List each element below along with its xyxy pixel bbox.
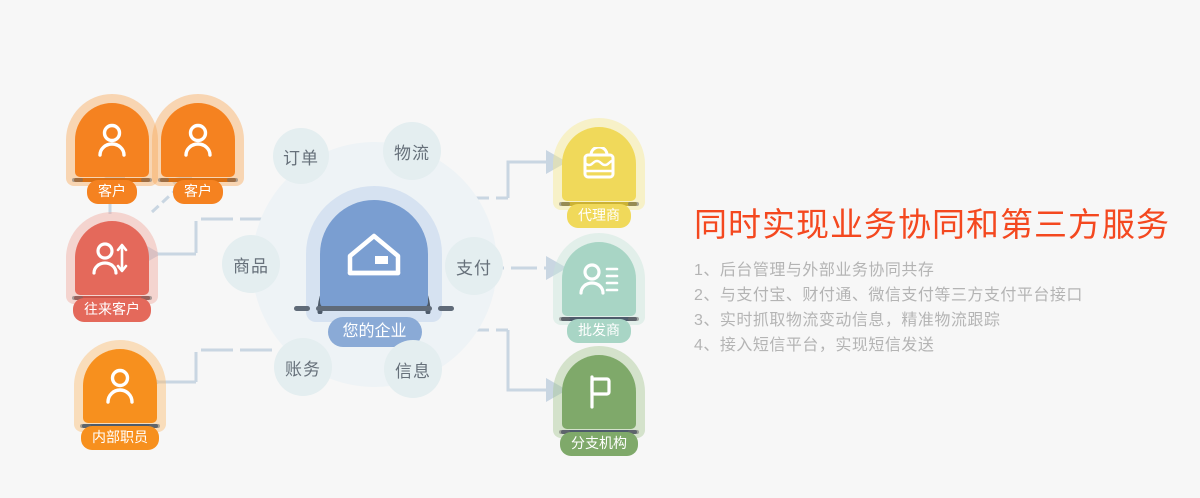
node-customer-a[interactable]: 客户 (66, 94, 158, 186)
feature-item-2: 2、与支付宝、财付通、微信支付等三方支付平台接口 (694, 283, 1174, 308)
bubble-accounting-label: 账务 (285, 355, 321, 380)
bubble-payment[interactable]: 支付 (445, 237, 503, 295)
node-contacts-label: 往来客户 (73, 298, 151, 322)
node-agent-label: 代理商 (567, 204, 631, 228)
bubble-orders[interactable]: 订单 (273, 128, 329, 184)
house-icon (347, 232, 401, 276)
node-wholesaler[interactable]: 批发商 (553, 233, 645, 325)
feature-list: 1、后台管理与外部业务协同共存 2、与支付宝、财付通、微信支付等三方支付平台接口… (694, 258, 1174, 358)
bubble-information[interactable]: 信息 (384, 340, 442, 398)
person-icon (181, 122, 215, 158)
bubble-logistics-label: 物流 (394, 139, 430, 164)
person-icon (103, 367, 137, 405)
node-customer-b[interactable]: 客户 (152, 94, 244, 186)
node-contacts[interactable]: 往来客户 (66, 212, 158, 304)
person-icon (95, 122, 129, 158)
node-arch (83, 349, 157, 423)
node-branch[interactable]: 分支机构 (553, 346, 645, 438)
bubble-logistics[interactable]: 物流 (383, 122, 441, 180)
hub-your-enterprise[interactable]: 您的企业 (292, 180, 457, 345)
bubble-payment-label: 支付 (456, 254, 492, 279)
bubble-goods-label: 商品 (233, 252, 269, 277)
node-customer-b-label: 客户 (173, 180, 223, 204)
node-arch (562, 355, 636, 429)
node-wholesaler-label: 批发商 (567, 319, 631, 343)
person-list-icon (578, 261, 620, 297)
node-arch (161, 103, 235, 177)
bubble-orders-label: 订单 (283, 144, 319, 169)
node-internal-staff[interactable]: 内部职员 (74, 340, 166, 432)
bubble-accounting[interactable]: 账务 (274, 338, 332, 396)
feature-item-1: 1、后台管理与外部业务协同共存 (694, 258, 1174, 283)
bubble-information-label: 信息 (395, 357, 431, 382)
feature-item-4: 4、接入短信平台，实现短信发送 (694, 333, 1174, 358)
node-agent[interactable]: 代理商 (553, 118, 645, 210)
person-exchange-icon (91, 240, 133, 276)
flag-icon (581, 374, 617, 410)
node-arch (75, 103, 149, 177)
node-branch-label: 分支机构 (560, 432, 638, 456)
headline: 同时实现业务协同和第三方服务 (694, 204, 1174, 246)
node-arch (75, 221, 149, 295)
node-arch (562, 242, 636, 316)
diagram-canvas: 您的企业 订单 物流 商品 支付 账务 信息 客户 (0, 0, 1200, 498)
basket-icon (581, 147, 617, 181)
bubble-goods[interactable]: 商品 (222, 235, 280, 293)
feature-item-3: 3、实时抓取物流变动信息，精准物流跟踪 (694, 308, 1174, 333)
node-customer-a-label: 客户 (87, 180, 137, 204)
node-internal-staff-label: 内部职员 (81, 426, 159, 450)
hub-pedestal (316, 306, 432, 311)
copy-block: 同时实现业务协同和第三方服务 1、后台管理与外部业务协同共存 2、与支付宝、财付… (694, 204, 1174, 358)
node-arch (562, 127, 636, 201)
hub-inner-arch (320, 200, 428, 308)
